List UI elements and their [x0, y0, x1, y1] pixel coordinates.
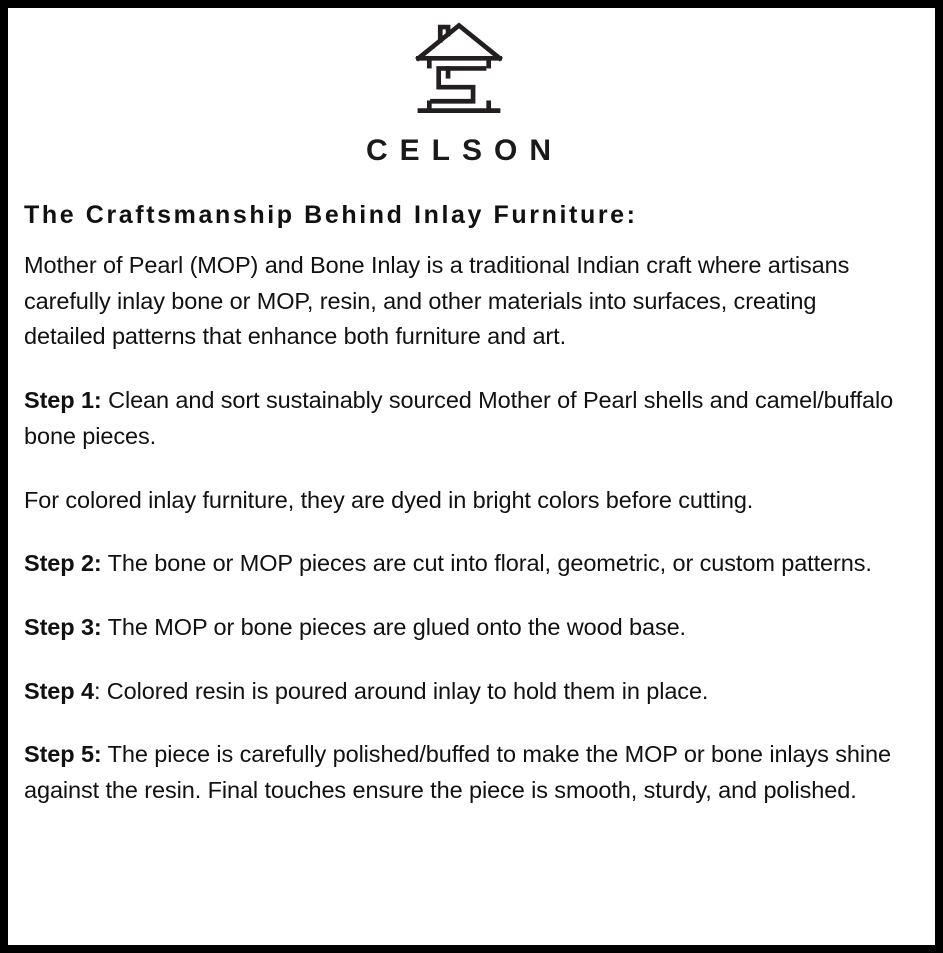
house-with-s-emblem-logo-icon	[412, 20, 506, 120]
paragraph-step-5: Step 5: The piece is carefully polished/…	[24, 737, 901, 808]
step-4-text: : Colored resin is poured around inlay t…	[94, 678, 708, 704]
step-1-text: Clean and sort sustainably sourced Mothe…	[24, 387, 893, 449]
poster-content: CELSON The Craftsmanship Behind Inlay Fu…	[8, 8, 935, 945]
step-1-label: Step 1:	[24, 387, 102, 413]
paragraph-step-1: Step 1: Clean and sort sustainably sourc…	[24, 383, 901, 454]
step-3-text: The MOP or bone pieces are glued onto th…	[102, 614, 686, 640]
paragraph-intro-text: Mother of Pearl (MOP) and Bone Inlay is …	[24, 252, 849, 349]
paragraph-step-4: Step 4: Colored resin is poured around i…	[24, 674, 901, 710]
step-2-text: The bone or MOP pieces are cut into flor…	[102, 550, 872, 576]
step-5-text: The piece is carefully polished/buffed t…	[24, 741, 891, 803]
poster-frame: CELSON The Craftsmanship Behind Inlay Fu…	[0, 0, 943, 953]
paragraph-step-2: Step 2: The bone or MOP pieces are cut i…	[24, 546, 901, 582]
step-3-label: Step 3:	[24, 614, 102, 640]
paragraph-colored-note: For colored inlay furniture, they are dy…	[24, 483, 901, 519]
step-2-label: Step 2:	[24, 550, 102, 576]
step-5-label: Step 5:	[24, 741, 102, 767]
paragraph-intro: Mother of Pearl (MOP) and Bone Inlay is …	[24, 248, 901, 355]
brand-name: CELSON	[16, 136, 901, 166]
body-copy: Mother of Pearl (MOP) and Bone Inlay is …	[24, 230, 901, 809]
page-title: The Craftsmanship Behind Inlay Furniture…	[24, 200, 901, 230]
colored-note-text: For colored inlay furniture, they are dy…	[24, 487, 753, 513]
paragraph-step-3: Step 3: The MOP or bone pieces are glued…	[24, 610, 901, 646]
brand-block: CELSON	[16, 16, 901, 166]
step-4-label: Step 4	[24, 678, 94, 704]
